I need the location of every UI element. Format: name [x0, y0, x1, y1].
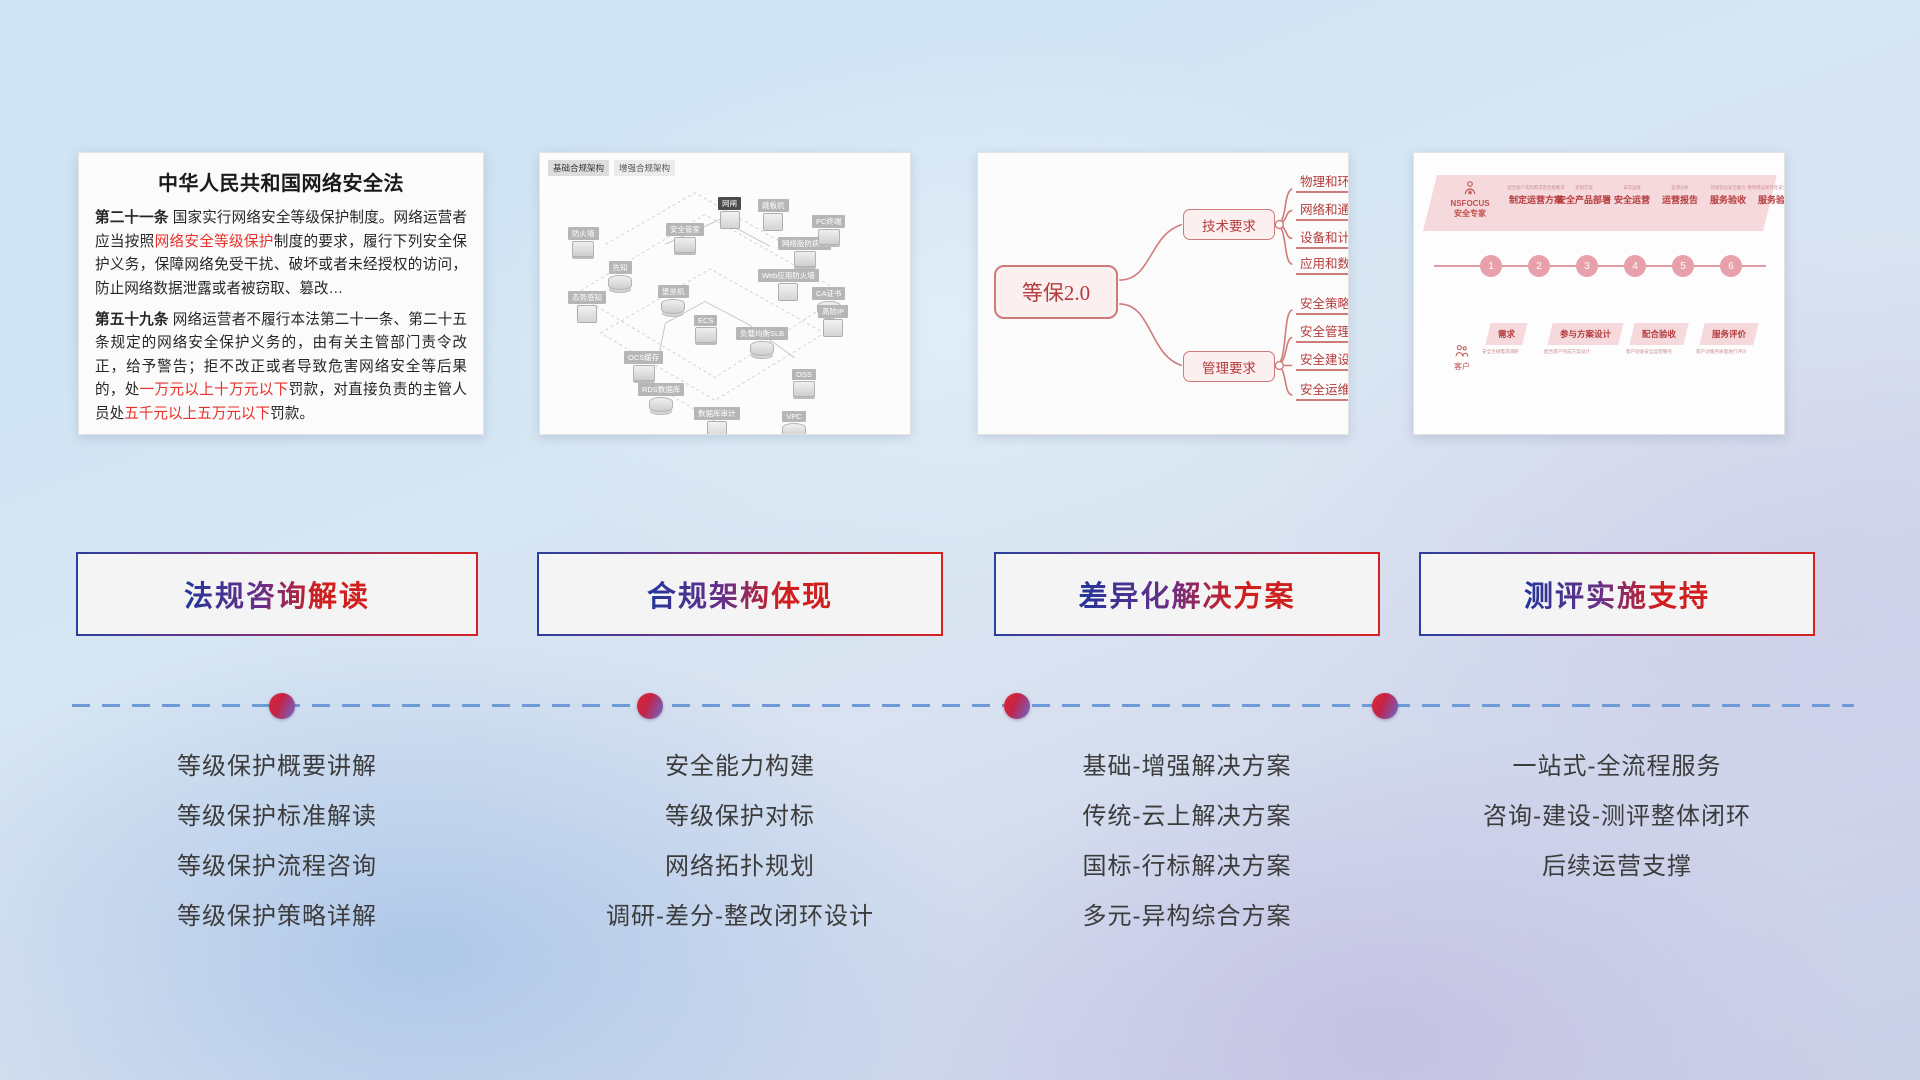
architecture-node: OSS [792, 369, 816, 397]
bullet-item: 等级保护策略详解 [76, 892, 478, 942]
mindmap-leaf: 安全运维管理 [1296, 379, 1349, 401]
timeline [72, 690, 1854, 720]
roadmap-step-dot: 1 [1480, 255, 1502, 277]
roadmap-bottom-tag-label: 需求 [1498, 328, 1515, 340]
architecture-node-glyph-icon [608, 275, 632, 290]
bullet-item: 国标-行标解决方案 [994, 842, 1380, 892]
architecture-node: 先知 [608, 261, 632, 290]
architecture-node-glyph-icon [782, 423, 806, 435]
architecture-node-label: 堡垒机 [658, 285, 689, 298]
architecture-node: 高防IP [818, 305, 848, 337]
architecture-node: OCS缓存 [624, 351, 663, 381]
roadmap-bottom-tag: 参与方案设计 [1547, 323, 1624, 345]
roadmap-bottom-tag-label: 服务评价 [1712, 328, 1746, 340]
architecture-node: 安全管家 [666, 223, 704, 253]
architecture-node: 网闸 [718, 197, 741, 229]
law-article-21: 第二十一条 国家实行网络安全等级保护制度。网络运营者应当按照网络安全等级保护制度… [95, 207, 467, 302]
timeline-dot-2 [1004, 693, 1030, 719]
architecture-canvas: 防火墙先知态势感知安全管家堡垒机网闸ECS负载均衡SLBWeb应用防火墙网络版防… [546, 175, 904, 428]
architecture-node-glyph-icon [763, 213, 783, 231]
architecture-node-label: 跳板机 [758, 199, 789, 212]
roadmap-bottom-tag: 服务评价 [1699, 323, 1759, 345]
roadmap-header-main: 服务验收 [1746, 193, 1785, 206]
heading-label: 测评实施支持 [1524, 573, 1710, 615]
roadmap-bottom-caption: 客户对服务质量进行评价 [1696, 349, 1747, 355]
architecture-diagram-card: 基础合规架构增强合规架构 防火墙先知态势感知安全管家堡垒机网闸ECS负载均衡SL… [539, 152, 911, 435]
roadmap-expert-brand: NSFOCUS [1442, 199, 1498, 209]
roadmap-step-dot: 3 [1576, 255, 1598, 277]
roadmap-bottom-tag-label: 参与方案设计 [1560, 328, 1611, 340]
law-article-59-label: 第五十九条 [95, 312, 169, 328]
law-article-21-label: 第二十一条 [95, 210, 169, 226]
bullet-item: 后续运营支撑 [1419, 842, 1815, 892]
architecture-node: 防火墙 [568, 227, 599, 257]
architecture-node-label: OCS缓存 [624, 351, 663, 364]
mindmap-root-node: 等保2.0 [994, 265, 1118, 319]
mindmap-branch-0: 技术要求 [1183, 209, 1275, 240]
architecture-node-glyph-icon [661, 299, 685, 314]
architecture-node: ECS [694, 315, 717, 343]
architecture-node-label: 数据库审计 [694, 407, 740, 420]
architecture-node-label: OSS [792, 369, 816, 380]
roadmap-banner-content: NSFOCUS 安全专家 结合客户实际需求及合规要求制定运营方案定制方案安全产品… [1430, 175, 1770, 231]
architecture-node-glyph-icon [794, 251, 816, 267]
roadmap-step-dot: 4 [1624, 255, 1646, 277]
architecture-node-label: 先知 [609, 261, 632, 274]
architecture-node-label: 网闸 [718, 197, 741, 210]
roadmap-bottom-caption: 客户验收安全运营服务 [1626, 349, 1672, 355]
law-card-title: 中华人民共和国网络安全法 [95, 167, 467, 196]
roadmap-expert-label: NSFOCUS 安全专家 [1442, 180, 1498, 219]
roadmap-header-item: 整改建议闭环及安全能力提升服务验收 [1746, 185, 1785, 206]
timeline-dashed-line [72, 704, 1854, 707]
roadmap-client-label: 客户 [1432, 362, 1492, 372]
mindmap-card: 等保2.0 技术要求物理和环境安全网络和通信安全设备和计算安全应用和数据安全管理… [977, 152, 1349, 435]
bullet-item: 调研-差分-整改闭环设计 [537, 892, 943, 942]
mindmap-branch-1: 管理要求 [1183, 351, 1275, 382]
mindmap-leaf: 物理和环境安全 [1296, 171, 1349, 193]
mindmap-leaf: 安全策略和管理制度 [1296, 293, 1349, 315]
architecture-node-label: CA证书 [812, 287, 845, 300]
heading-row: 法规咨询解读合规架构体现差异化解决方案测评实施支持 [0, 552, 1920, 640]
bullet-item: 网络拓扑规划 [537, 842, 943, 892]
architecture-node-glyph-icon [707, 421, 727, 435]
architecture-node-glyph-icon [649, 397, 673, 412]
person-star-icon [1462, 180, 1478, 196]
law-article-59-highlight-2: 五千元以上五万元以下 [124, 406, 270, 422]
bullet-item: 一站式-全流程服务 [1419, 742, 1815, 792]
heading-box-3[interactable]: 测评实施支持 [1419, 552, 1815, 636]
architecture-node-label: 安全管家 [666, 223, 704, 236]
architecture-node: 负载均衡SLB [736, 327, 788, 356]
architecture-node-glyph-icon [818, 229, 840, 245]
architecture-node-label: Web应用防火墙 [758, 269, 819, 282]
roadmap-step-dot: 5 [1672, 255, 1694, 277]
heading-label: 差异化解决方案 [1078, 573, 1295, 615]
heading-box-2[interactable]: 差异化解决方案 [994, 552, 1380, 636]
architecture-node-glyph-icon [674, 237, 696, 253]
architecture-node-glyph-icon [823, 319, 843, 337]
bullet-item: 等级保护流程咨询 [76, 842, 478, 892]
bullet-column-3: 一站式-全流程服务咨询-建设-测评整体闭环后续运营支撑 [1419, 742, 1815, 892]
roadmap-bottom-caption: 配合客户完成方案设计 [1544, 349, 1590, 355]
architecture-node-glyph-icon [633, 365, 655, 381]
roadmap-header-sub: 整改建议闭环及安全能力提升 [1746, 185, 1785, 191]
heading-box-0[interactable]: 法规咨询解读 [76, 552, 478, 636]
architecture-node-glyph-icon [750, 341, 774, 356]
bullet-column-2: 基础-增强解决方案传统-云上解决方案国标-行标解决方案多元-异构综合方案 [994, 742, 1380, 942]
architecture-node: 态势感知 [568, 291, 606, 323]
architecture-node: PC终端 [812, 215, 845, 245]
law-article-59-text-c: 罚款。 [270, 406, 314, 422]
bullet-item: 多元-异构综合方案 [994, 892, 1380, 942]
architecture-node: 数据库审计 [694, 407, 740, 435]
heading-label: 合规架构体现 [647, 573, 833, 615]
architecture-node-label: 负载均衡SLB [736, 327, 788, 340]
timeline-dot-3 [1372, 693, 1398, 719]
bullet-item: 传统-云上解决方案 [994, 792, 1380, 842]
architecture-node-label: ECS [694, 315, 717, 326]
architecture-node-label: RDS数据库 [638, 383, 684, 396]
architecture-node-glyph-icon [720, 211, 740, 229]
architecture-node-label: 态势感知 [568, 291, 606, 304]
architecture-node-label: 高防IP [818, 305, 848, 318]
law-article-59-highlight-1: 一万元以上十万元以下 [140, 382, 289, 398]
architecture-node-glyph-icon [572, 241, 594, 257]
architecture-tabs[interactable]: 基础合规架构增强合规架构 [548, 160, 675, 176]
roadmap-bottom-tag-label: 配合验收 [1642, 328, 1676, 340]
mindmap-leaf: 安全建设管理 [1296, 349, 1349, 371]
law-article-59: 第五十九条 网络运营者不履行本法第二十一条、第二十五条规定的网络安全保护义务的，… [95, 309, 467, 427]
roadmap-bottom-tag: 需求 [1485, 323, 1528, 345]
heading-label: 法规咨询解读 [184, 573, 370, 615]
architecture-node-label: VPC [782, 411, 805, 422]
timeline-dot-0 [269, 693, 295, 719]
architecture-node-label: 防火墙 [568, 227, 599, 240]
roadmap-bottom-tag: 配合验收 [1629, 323, 1689, 345]
bullet-item: 等级保护对标 [537, 792, 943, 842]
people-icon [1454, 343, 1470, 359]
bullet-column-0: 等级保护概要讲解等级保护标准解读等级保护流程咨询等级保护策略详解 [76, 742, 478, 942]
heading-box-1[interactable]: 合规架构体现 [537, 552, 943, 636]
mindmap-leaf: 网络和通信安全 [1296, 199, 1349, 221]
mindmap-leaf: 应用和数据安全 [1296, 253, 1349, 275]
architecture-node-glyph-icon [778, 283, 798, 301]
roadmap-client-role: 客户 [1432, 343, 1492, 373]
architecture-tab-0[interactable]: 基础合规架构 [548, 160, 609, 176]
bullet-item: 等级保护概要讲解 [76, 742, 478, 792]
bullet-item: 基础-增强解决方案 [994, 742, 1380, 792]
mindmap-leaf: 设备和计算安全 [1296, 227, 1349, 249]
roadmap-expert-role: 安全专家 [1442, 209, 1498, 219]
architecture-node: RDS数据库 [638, 383, 684, 412]
architecture-node-glyph-icon [695, 327, 717, 343]
architecture-node: 跳板机 [758, 199, 789, 231]
roadmap-step-dot: 6 [1720, 255, 1742, 277]
architecture-tab-1[interactable]: 增强合规架构 [614, 160, 675, 176]
mindmap-leaf: 安全管理机构和人员 [1296, 321, 1349, 343]
architecture-node-label: PC终端 [812, 215, 845, 228]
law-article-21-highlight: 网络安全等级保护 [155, 234, 274, 250]
roadmap-step-dot: 2 [1528, 255, 1550, 277]
law-text-card: 中华人民共和国网络安全法 第二十一条 国家实行网络安全等级保护制度。网络运营者应… [78, 152, 484, 435]
bullet-item: 咨询-建设-测评整体闭环 [1419, 792, 1815, 842]
bullet-item: 安全能力构建 [537, 742, 943, 792]
architecture-node: VPC [782, 411, 806, 435]
bullet-column-1: 安全能力构建等级保护对标网络拓扑规划调研-差分-整改闭环设计 [537, 742, 943, 942]
architecture-node-glyph-icon [577, 305, 597, 323]
roadmap-card: NSFOCUS 安全专家 结合客户实际需求及合规要求制定运营方案定制方案安全产品… [1413, 152, 1785, 435]
architecture-node: Web应用防火墙 [758, 269, 819, 301]
timeline-dot-1 [637, 693, 663, 719]
architecture-node-glyph-icon [793, 381, 815, 397]
bullet-item: 等级保护标准解读 [76, 792, 478, 842]
architecture-node: 堡垒机 [658, 285, 689, 314]
